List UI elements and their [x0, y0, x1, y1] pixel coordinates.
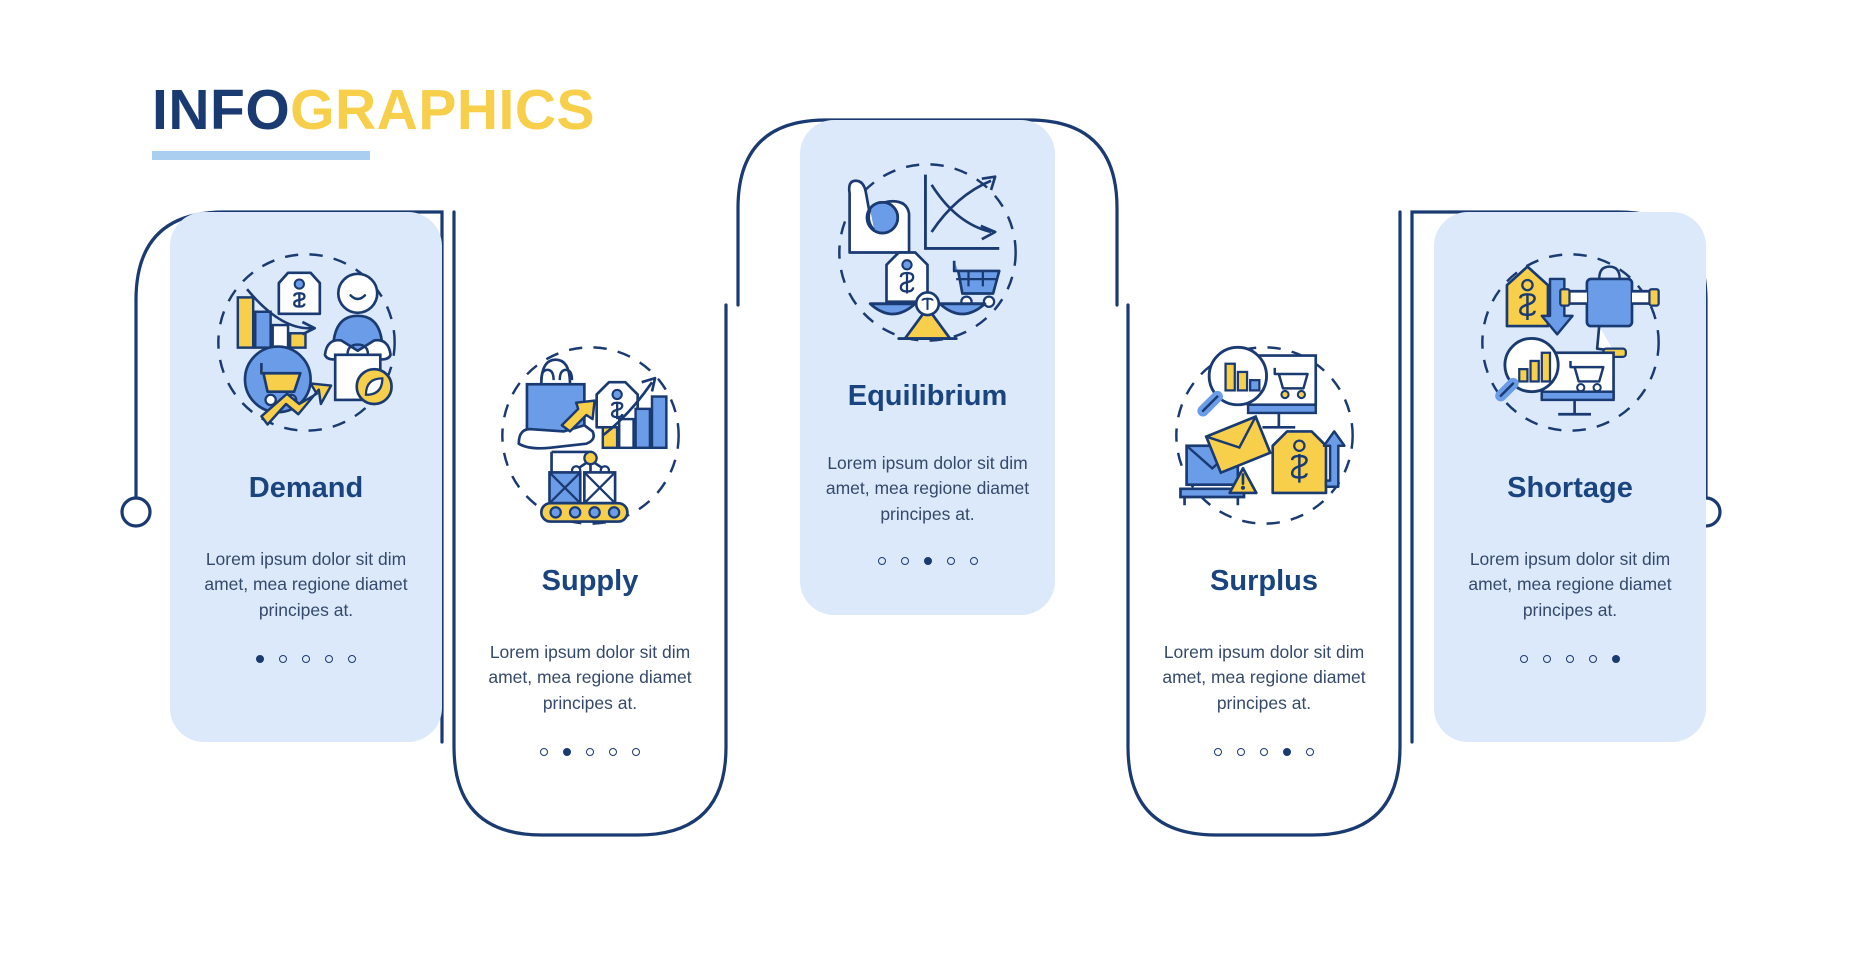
step-dot-5[interactable] — [348, 655, 356, 663]
step-dot-1[interactable] — [540, 748, 548, 756]
title-underline-rule — [152, 151, 370, 160]
step-card-supply[interactable]: Supply Lorem ipsum dolor sit dim amet, m… — [454, 305, 726, 835]
step-card-shortage[interactable]: Shortage Lorem ipsum dolor sit dim amet,… — [1434, 212, 1706, 742]
step-dot-4[interactable] — [947, 557, 955, 565]
step-dot-2[interactable] — [279, 655, 287, 663]
step-dot-4[interactable] — [1283, 748, 1291, 756]
step-dot-3[interactable] — [586, 748, 594, 756]
step-dot-2[interactable] — [563, 748, 571, 756]
supply-concept-icon — [488, 333, 693, 538]
step-dot-3[interactable] — [302, 655, 310, 663]
surplus-concept-icon — [1162, 333, 1367, 538]
step-dot-2[interactable] — [1237, 748, 1245, 756]
step-indicator-dots[interactable] — [1214, 748, 1314, 756]
page-header: INFOGRAPHICS — [152, 82, 752, 192]
step-indicator-dots[interactable] — [878, 557, 978, 565]
step-dot-2[interactable] — [1543, 655, 1551, 663]
card-description: Lorem ipsum dolor sit dim amet, mea regi… — [1147, 640, 1382, 716]
shortage-concept-icon — [1468, 240, 1673, 445]
step-dot-1[interactable] — [1520, 655, 1528, 663]
step-dot-2[interactable] — [901, 557, 909, 565]
card-title: Equilibrium — [848, 381, 1008, 413]
chain-start-node — [122, 498, 150, 526]
card-title: Surplus — [1210, 566, 1318, 598]
step-card-equilibrium[interactable]: Equilibrium Lorem ipsum dolor sit dim am… — [800, 120, 1055, 615]
page-title-primary: INFO — [152, 78, 290, 142]
card-title: Demand — [249, 473, 363, 505]
equilibrium-concept-icon — [825, 150, 1030, 355]
step-dot-3[interactable] — [924, 557, 932, 565]
card-description: Lorem ipsum dolor sit dim amet, mea regi… — [189, 547, 424, 623]
step-indicator-dots[interactable] — [540, 748, 640, 756]
step-dot-1[interactable] — [256, 655, 264, 663]
step-dot-1[interactable] — [1214, 748, 1222, 756]
step-card-surplus[interactable]: Surplus Lorem ipsum dolor sit dim amet, … — [1128, 305, 1400, 835]
step-dot-3[interactable] — [1260, 748, 1268, 756]
step-indicator-dots[interactable] — [1520, 655, 1620, 663]
step-dot-5[interactable] — [632, 748, 640, 756]
step-dot-5[interactable] — [1306, 748, 1314, 756]
card-description: Lorem ipsum dolor sit dim amet, mea regi… — [810, 451, 1045, 527]
card-title: Shortage — [1507, 473, 1633, 505]
card-description: Lorem ipsum dolor sit dim amet, mea regi… — [473, 640, 708, 716]
step-dot-4[interactable] — [325, 655, 333, 663]
page-title: INFOGRAPHICS — [152, 82, 752, 139]
step-dot-4[interactable] — [609, 748, 617, 756]
step-dot-5[interactable] — [1612, 655, 1620, 663]
step-card-demand[interactable]: Demand Lorem ipsum dolor sit dim amet, m… — [170, 212, 442, 742]
card-title: Supply — [542, 566, 639, 598]
step-dot-5[interactable] — [970, 557, 978, 565]
step-dot-1[interactable] — [878, 557, 886, 565]
demand-concept-icon — [204, 240, 409, 445]
step-dot-4[interactable] — [1589, 655, 1597, 663]
page-title-secondary: GRAPHICS — [290, 78, 595, 142]
step-indicator-dots[interactable] — [256, 655, 356, 663]
card-description: Lorem ipsum dolor sit dim amet, mea regi… — [1453, 547, 1688, 623]
step-dot-3[interactable] — [1566, 655, 1574, 663]
